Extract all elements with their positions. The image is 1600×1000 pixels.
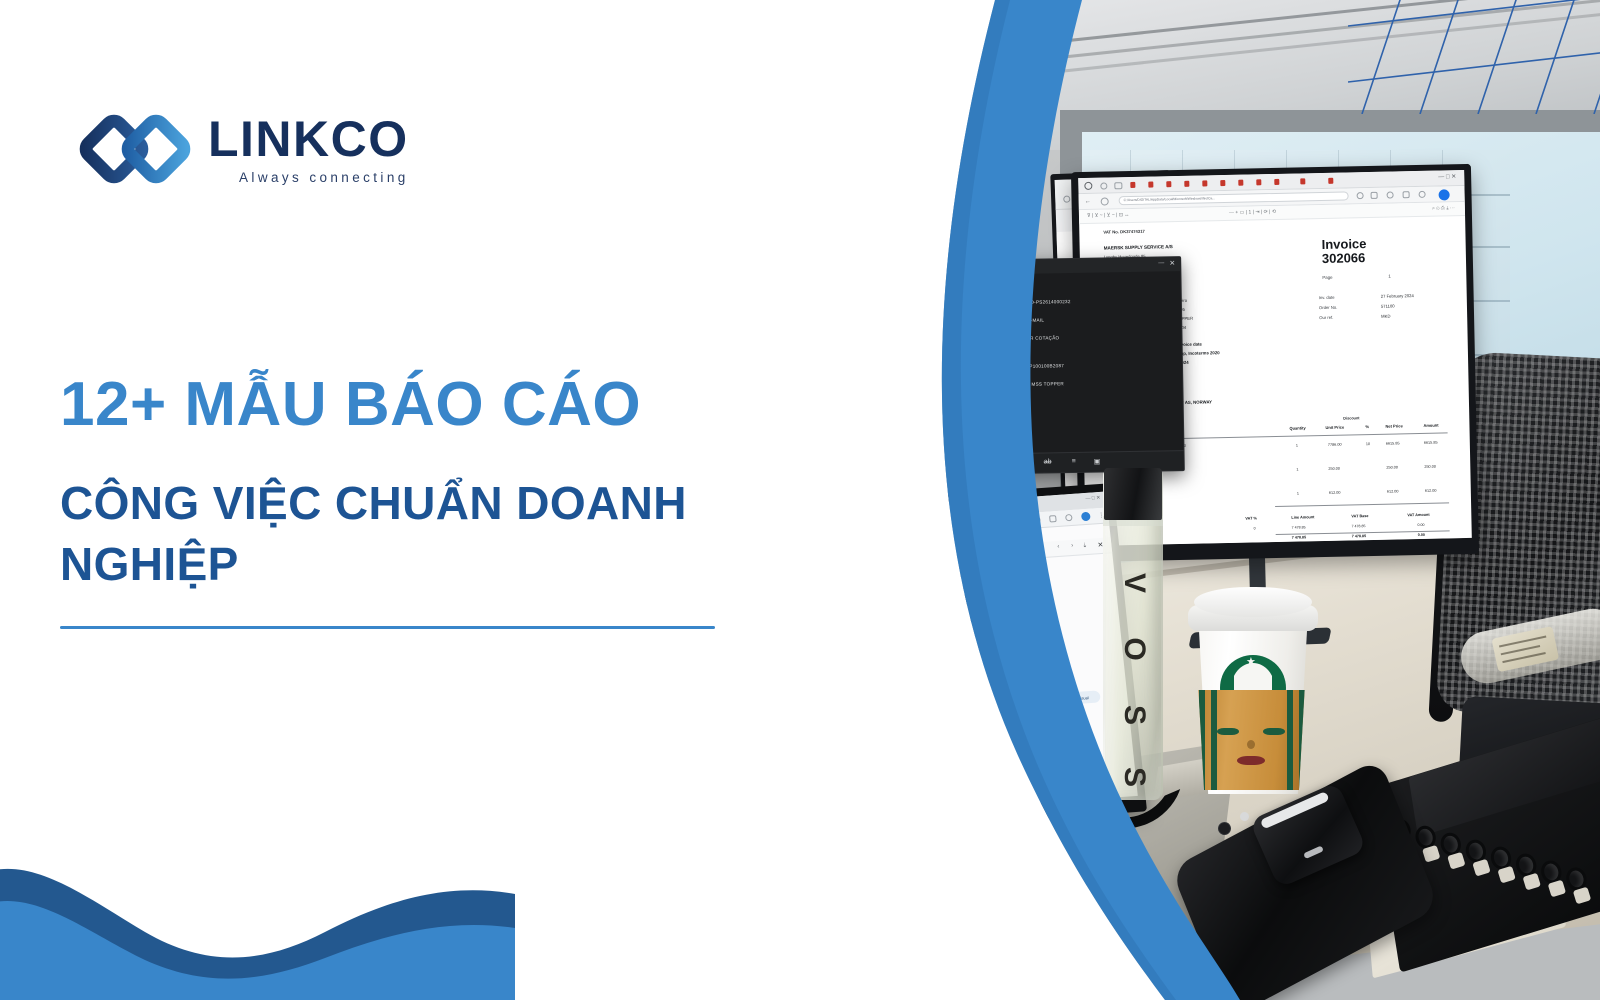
vat-row-line: 7 478.85 [1292, 525, 1306, 529]
sleeve-face-art [1213, 698, 1289, 784]
row-disc: 10 [1366, 442, 1370, 446]
logo-wordmark: LINKCO [208, 114, 409, 164]
image-icon[interactable]: ▣ [1094, 458, 1101, 466]
note-item[interactable]: RELEASE POS [975, 445, 1010, 451]
address-bar[interactable]: C:/Users/DIGITAL/AppData/Local/Microsoft… [1119, 191, 1349, 204]
vat-row-amt: 0.00 [1417, 523, 1424, 527]
brand-logo[interactable]: LINKCO Always connecting [78, 104, 408, 194]
bottle-brand-letter: S [1117, 755, 1151, 799]
laptop-bookmark-label: Todos os favoritos [1005, 533, 1034, 539]
row-qty: 1 [1296, 444, 1298, 448]
visual-button[interactable]: Visual [1066, 690, 1101, 704]
logo-tagline: Always connecting [208, 171, 409, 185]
vat-total-line: 7 478.85 [1292, 535, 1306, 539]
interlocking-diamonds-icon [78, 107, 196, 191]
note-item[interactable]: ANALISAR STATUS PO P100100B2087 [974, 363, 1064, 370]
note-item[interactable]: ANALISAR INVOICES [975, 400, 1025, 406]
invoice-vat-line: VAT No. DK37474317 [1103, 229, 1145, 235]
vat-total-base: 7 478.85 [1352, 534, 1366, 538]
col-amount: Amount [1423, 423, 1438, 428]
laptop-screen[interactable]: Search a title + — □ ✕ https://s2tc0b/dm… [897, 492, 1138, 811]
row-net: 250.00 [1386, 465, 1398, 469]
coffee-cup-lid [1194, 587, 1312, 617]
bottle-cap [1104, 468, 1162, 520]
note-item[interactable]: APROVAR POS [975, 430, 1011, 436]
bottom-left-wave [0, 752, 515, 1000]
row-net: 612.00 [1387, 489, 1399, 493]
invoice-number: 302066 [1322, 250, 1366, 266]
diagram-label: CORE SCREW TO CLAMPER BOLT [992, 588, 1031, 597]
bottle-label [1491, 626, 1559, 672]
office-desk-photo: — □ ✕ Todos os favoritos NCE EKCC-DLSI [860, 0, 1600, 1000]
headline-line-1: 12+ MẪU BÁO CÁO [60, 372, 740, 437]
note-item[interactable]: ENVIAR E-MAIL [1007, 318, 1044, 324]
list-icon[interactable]: ≡ [1072, 458, 1076, 465]
invoice-company: MAERSK SUPPLY SERVICE A/S [1104, 244, 1173, 250]
vat-row-base: 7 478.85 [1352, 524, 1366, 528]
bottle-brand-letter: O [1117, 627, 1151, 671]
row-amount: 6615.85 [1424, 441, 1438, 445]
left-content-panel: LINKCO Always connecting 12+ MẪU BÁO CÁO… [0, 0, 880, 1000]
vat-total-amt: 0.00 [1418, 533, 1425, 537]
col-net-price: Net Price [1385, 423, 1402, 428]
col-quantity: Quantity [1289, 425, 1305, 430]
zoom-label: 100% [941, 735, 953, 741]
col-unit-price: Unit Price [1325, 425, 1344, 430]
bottle-brand-letter: S [1117, 693, 1151, 737]
italic-icon[interactable]: I [1000, 459, 1002, 466]
minimize-icon[interactable]: — [1158, 260, 1164, 266]
bold-icon[interactable]: B [978, 460, 983, 467]
folder-icon [995, 534, 1003, 540]
row-amount: 250.00 [1424, 465, 1436, 469]
invoice-page-value: 1 [1388, 274, 1391, 279]
note-title-bar[interactable]: — ✕ [964, 257, 1180, 275]
note-item[interactable]: SOLICITAR COTAÇÃO [1007, 335, 1059, 341]
note-item[interactable]: ENVIAR POS [975, 415, 1006, 421]
bottle-brand-letter: V [1117, 561, 1151, 605]
diagram-label: BAFFLE TO CLAMPER BOLT (LONG & SHORT) [966, 688, 1007, 697]
technical-diagram: -Former Assembly Bolts CORE SCREW [926, 563, 1052, 728]
coffee-cup-sleeve [1195, 690, 1308, 790]
new-tab-icon[interactable]: + [1007, 502, 1011, 508]
vat-col-pct: VAT % [1245, 516, 1257, 520]
vat-col-line: Line Amount [1291, 515, 1314, 519]
gov-link[interactable]: .gov [943, 751, 951, 757]
diagram-label: CORRECT COVER BRACKET/BAFFLE TO CLAMPER … [1010, 685, 1049, 697]
row-amount: 612.00 [1425, 489, 1437, 493]
row-unit: 7786.00 [1328, 443, 1342, 447]
secondary-action-button[interactable] [940, 775, 1011, 793]
row-qty: 1 [1296, 468, 1298, 472]
row-qty: 1 [1297, 492, 1299, 496]
save-button[interactable]: Salvar [1022, 768, 1103, 787]
task-note-window[interactable]: — ✕ ENVIAR PO-PS2614000232 ENVIAR E-MAIL… [963, 256, 1185, 475]
diagram-title: -Former Assembly Bolts [934, 571, 994, 581]
row-unit: 612.00 [1329, 491, 1341, 495]
headline-underline [60, 626, 715, 629]
note-item[interactable]: ENVIAR E-MAIL CABO - MSS TOPPER [974, 381, 1064, 388]
poster-canvas: — □ ✕ Todos os favoritos NCE EKCC-DLSI [0, 0, 1600, 1000]
row-net: 6615.85 [1386, 441, 1400, 445]
note-item[interactable]: ENVIAR PO-PS2614000232 [1007, 299, 1071, 305]
headline-line-2: CÔNG VIỆC CHUẨN DOANH NGHIỆP [60, 473, 720, 594]
invoice-page-label: Page [1322, 275, 1332, 280]
close-icon[interactable]: ✕ [1169, 259, 1175, 267]
vat-col-amt: VAT Amount [1407, 513, 1429, 517]
vat-row-pct: 0 [1254, 526, 1256, 530]
diagram-label: ROSIN BOLT [951, 663, 967, 667]
headline: 12+ MẪU BÁO CÁO CÔNG VIỆC CHUẨN DOANH NG… [60, 372, 740, 595]
underline-icon[interactable]: U [1022, 459, 1027, 466]
vat-col-base: VAT Base [1351, 514, 1368, 518]
strikethrough-icon[interactable]: ab [1044, 458, 1052, 465]
diagram-logo [948, 714, 971, 722]
row-unit: 250.00 [1328, 467, 1340, 471]
